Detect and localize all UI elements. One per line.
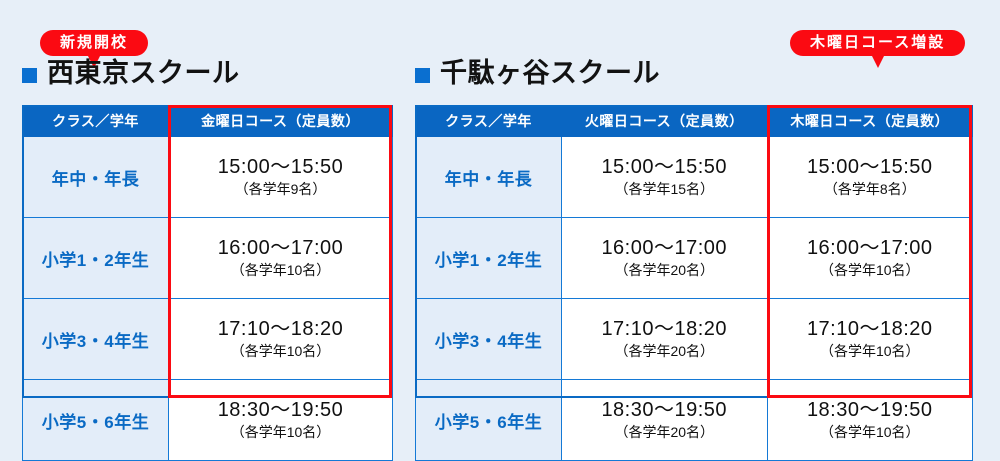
badge-pointer-icon [872, 56, 884, 68]
added-course-badge-label: 木曜日コース増設 [810, 34, 945, 51]
row-label: 小学5・6年生 [23, 380, 169, 461]
school-title: 西東京スクール [47, 60, 240, 87]
row-label: 小学1・2年生 [23, 218, 169, 299]
added-course-badge: 木曜日コース増設 [790, 30, 965, 56]
school-heading-sendagaya: 千駄ヶ谷スクール [415, 60, 660, 87]
table-row: 小学3・4年生 17:10〜18:20 （各学年20名） 17:10〜18:20… [416, 299, 973, 380]
course-cell: 18:30〜19:50 （各学年20名） [562, 380, 768, 461]
course-time: 17:10〜18:20 [562, 317, 767, 342]
course-cell: 17:10〜18:20 （各学年10名） [767, 299, 973, 380]
course-capacity: （各学年10名） [768, 423, 973, 441]
column-header-thursday-course: 木曜日コース（定員数） [767, 106, 973, 137]
course-cell: 17:10〜18:20 （各学年10名） [169, 299, 393, 380]
table-header-row: クラス／学年 金曜日コース（定員数） [23, 106, 393, 137]
row-label: 小学3・4年生 [23, 299, 169, 380]
table-row: 小学1・2年生 16:00〜17:00 （各学年20名） 16:00〜17:00… [416, 218, 973, 299]
schedule-poster: 新規開校 西東京スクール クラス／学年 金曜日コース（定員数） 年中・年長 [0, 0, 1000, 430]
square-bullet-icon [22, 68, 37, 83]
course-capacity: （各学年10名） [169, 423, 392, 441]
added-course-badge-wrapper: 木曜日コース増設 [790, 30, 965, 60]
table-row: 小学3・4年生 17:10〜18:20 （各学年10名） [23, 299, 393, 380]
course-time: 17:10〜18:20 [768, 317, 973, 342]
course-time: 16:00〜17:00 [169, 236, 392, 261]
course-cell: 15:00〜15:50 （各学年9名） [169, 137, 393, 218]
column-header-tuesday-course: 火曜日コース（定員数） [562, 106, 768, 137]
school-heading-nishi-tokyo: 西東京スクール [22, 60, 240, 87]
course-cell: 15:00〜15:50 （各学年15名） [562, 137, 768, 218]
course-cell: 15:00〜15:50 （各学年8名） [767, 137, 973, 218]
course-time: 15:00〜15:50 [562, 155, 767, 180]
column-header-class: クラス／学年 [416, 106, 562, 137]
course-cell: 18:30〜19:50 （各学年10名） [169, 380, 393, 461]
table-row: 年中・年長 15:00〜15:50 （各学年15名） 15:00〜15:50 （… [416, 137, 973, 218]
course-time: 18:30〜19:50 [768, 398, 973, 423]
course-cell: 16:00〜17:00 （各学年10名） [767, 218, 973, 299]
course-time: 15:00〜15:50 [768, 155, 973, 180]
course-time: 15:00〜15:50 [169, 155, 392, 180]
new-school-badge-label: 新規開校 [60, 34, 128, 51]
row-label: 年中・年長 [23, 137, 169, 218]
new-school-badge-wrapper: 新規開校 [40, 30, 148, 60]
course-time: 16:00〜17:00 [562, 236, 767, 261]
course-time: 18:30〜19:50 [562, 398, 767, 423]
course-capacity: （各学年10名） [169, 342, 392, 360]
schedule-table-nishi-tokyo: クラス／学年 金曜日コース（定員数） 年中・年長 15:00〜15:50 （各学… [22, 105, 393, 461]
course-capacity: （各学年9名） [169, 180, 392, 198]
row-label: 小学3・4年生 [416, 299, 562, 380]
new-school-badge: 新規開校 [40, 30, 148, 56]
table-row: 小学5・6年生 18:30〜19:50 （各学年10名） [23, 380, 393, 461]
course-cell: 17:10〜18:20 （各学年20名） [562, 299, 768, 380]
row-label: 年中・年長 [416, 137, 562, 218]
row-label: 小学5・6年生 [416, 380, 562, 461]
table-row: 小学5・6年生 18:30〜19:50 （各学年20名） 18:30〜19:50… [416, 380, 973, 461]
course-capacity: （各学年20名） [562, 342, 767, 360]
row-label: 小学1・2年生 [416, 218, 562, 299]
course-time: 16:00〜17:00 [768, 236, 973, 261]
column-header-friday-course: 金曜日コース（定員数） [169, 106, 393, 137]
table-header-row: クラス／学年 火曜日コース（定員数） 木曜日コース（定員数） [416, 106, 973, 137]
schedule-table-sendagaya: クラス／学年 火曜日コース（定員数） 木曜日コース（定員数） 年中・年長 15:… [415, 105, 973, 461]
course-capacity: （各学年15名） [562, 180, 767, 198]
column-header-class: クラス／学年 [23, 106, 169, 137]
course-capacity: （各学年10名） [768, 261, 973, 279]
course-capacity: （各学年20名） [562, 261, 767, 279]
course-capacity: （各学年10名） [768, 342, 973, 360]
course-cell: 16:00〜17:00 （各学年20名） [562, 218, 768, 299]
course-cell: 16:00〜17:00 （各学年10名） [169, 218, 393, 299]
table-row: 小学1・2年生 16:00〜17:00 （各学年10名） [23, 218, 393, 299]
course-time: 18:30〜19:50 [169, 398, 392, 423]
course-capacity: （各学年10名） [169, 261, 392, 279]
table-row: 年中・年長 15:00〜15:50 （各学年9名） [23, 137, 393, 218]
course-time: 17:10〜18:20 [169, 317, 392, 342]
course-capacity: （各学年8名） [768, 180, 973, 198]
course-capacity: （各学年20名） [562, 423, 767, 441]
course-cell: 18:30〜19:50 （各学年10名） [767, 380, 973, 461]
square-bullet-icon [415, 68, 430, 83]
school-title: 千駄ヶ谷スクール [440, 60, 660, 87]
